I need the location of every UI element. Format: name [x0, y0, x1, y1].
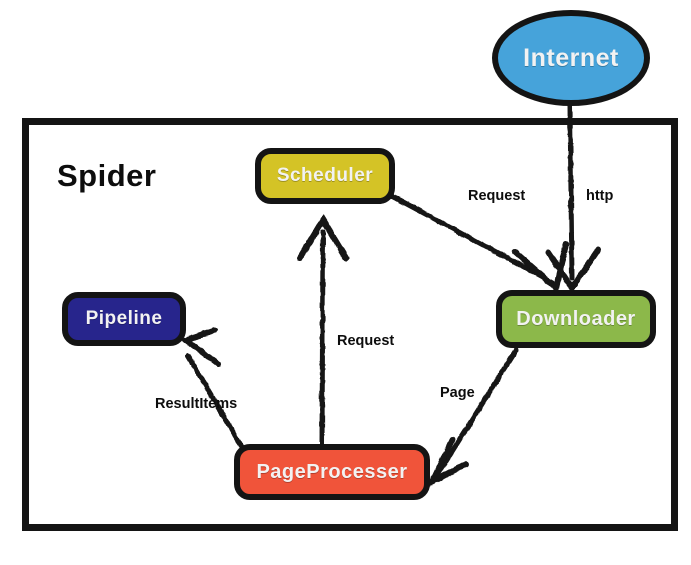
node-pageprocesser[interactable]: PageProcesser [234, 444, 430, 500]
edge-label-pageprocesser-scheduler: Request [337, 333, 394, 349]
node-pipeline[interactable]: Pipeline [62, 292, 186, 346]
node-downloader[interactable]: Downloader [496, 290, 656, 348]
edge-label-pageprocesser-pipeline: ResultItems [155, 396, 237, 412]
node-downloader-label: Downloader [516, 308, 635, 331]
diagram-canvas: Spider Internet Scheduler Downloader Pip… [0, 0, 691, 565]
edge-label-downloader-pageprocesser: Page [440, 385, 475, 401]
spider-container-label: Spider [57, 158, 156, 194]
node-scheduler-label: Scheduler [277, 165, 373, 187]
node-internet[interactable]: Internet [492, 10, 650, 106]
edge-label-internet-downloader: http [586, 188, 613, 204]
node-pageprocesser-label: PageProcesser [256, 461, 407, 484]
node-pipeline-label: Pipeline [86, 308, 163, 330]
edge-label-scheduler-downloader: Request [468, 188, 525, 204]
node-scheduler[interactable]: Scheduler [255, 148, 395, 204]
node-internet-label: Internet [523, 44, 619, 73]
